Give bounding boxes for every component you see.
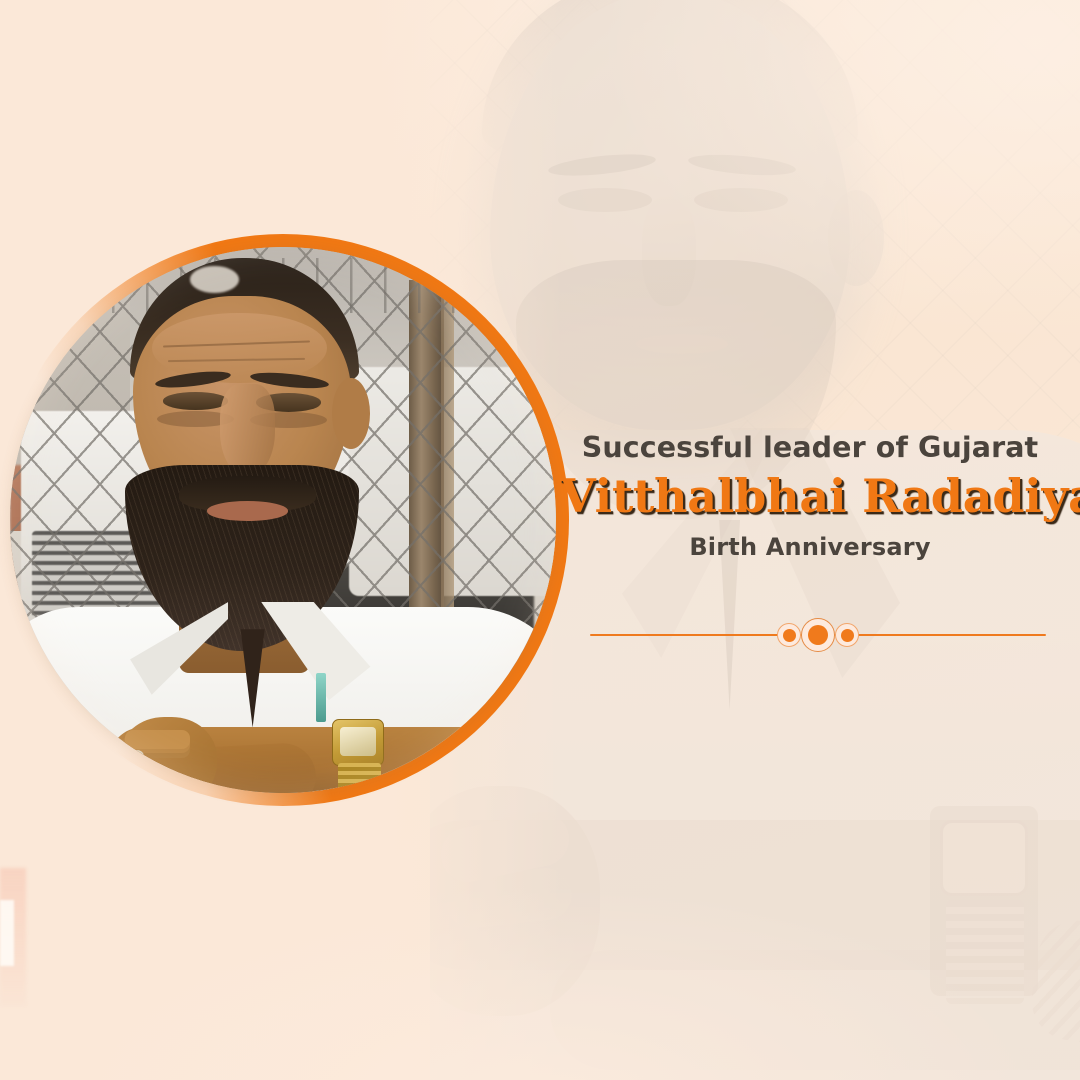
divider-dot-right-core — [841, 629, 854, 642]
photo-subject-lower-lip — [207, 501, 289, 521]
honoree-name: Vitthalbhai Radadiya — [560, 472, 1060, 522]
photo-subject-finger-ring — [130, 750, 144, 763]
divider-dot-center — [801, 618, 835, 652]
photo-subject-thumbnail — [122, 768, 144, 788]
text-block: Successful leader of Gujarat Vitthalbhai… — [560, 432, 1060, 576]
divider-dot-left — [777, 623, 801, 647]
photo-subject-watch-band — [338, 763, 382, 793]
divider-dot-group — [777, 618, 859, 652]
divider-dot-right — [835, 623, 859, 647]
divider-dot-center-core — [808, 625, 828, 645]
photo-subject-watch-face — [340, 727, 375, 755]
background-white-sheet — [0, 900, 14, 966]
photo-subject-eye-left — [163, 392, 229, 409]
divider-dot-left-core — [783, 629, 796, 642]
photo-subject-nose — [220, 384, 275, 477]
photo-subject-forehead — [152, 313, 327, 384]
portrait-photo-scene — [10, 247, 556, 793]
portrait-photo — [10, 247, 556, 793]
photo-subject-pocket-pen — [316, 673, 326, 722]
photo-subject-fingers — [125, 730, 191, 749]
ornamental-divider — [590, 618, 1046, 652]
occasion-label: Birth Anniversary — [560, 534, 1060, 560]
tagline: Successful leader of Gujarat — [560, 432, 1060, 463]
portrait-frame — [0, 234, 569, 806]
poster-canvas: Successful leader of Gujarat Vitthalbhai… — [0, 0, 1080, 1080]
